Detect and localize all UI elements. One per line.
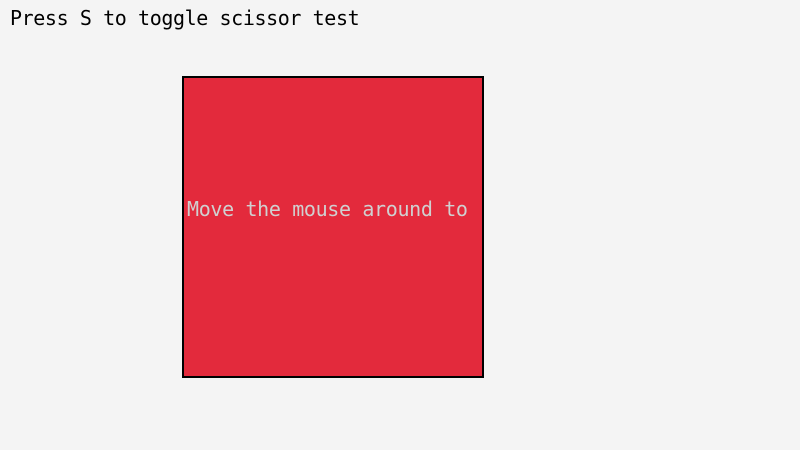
scissor-test-canvas: Press S to toggle scissor test Move the … [0,0,800,450]
scissor-rectangle[interactable]: Move the mouse around to reveal the text [182,76,484,378]
clipped-message-text: Move the mouse around to reveal the text [187,198,484,220]
scissor-toggle-hint: Press S to toggle scissor test [10,7,359,29]
